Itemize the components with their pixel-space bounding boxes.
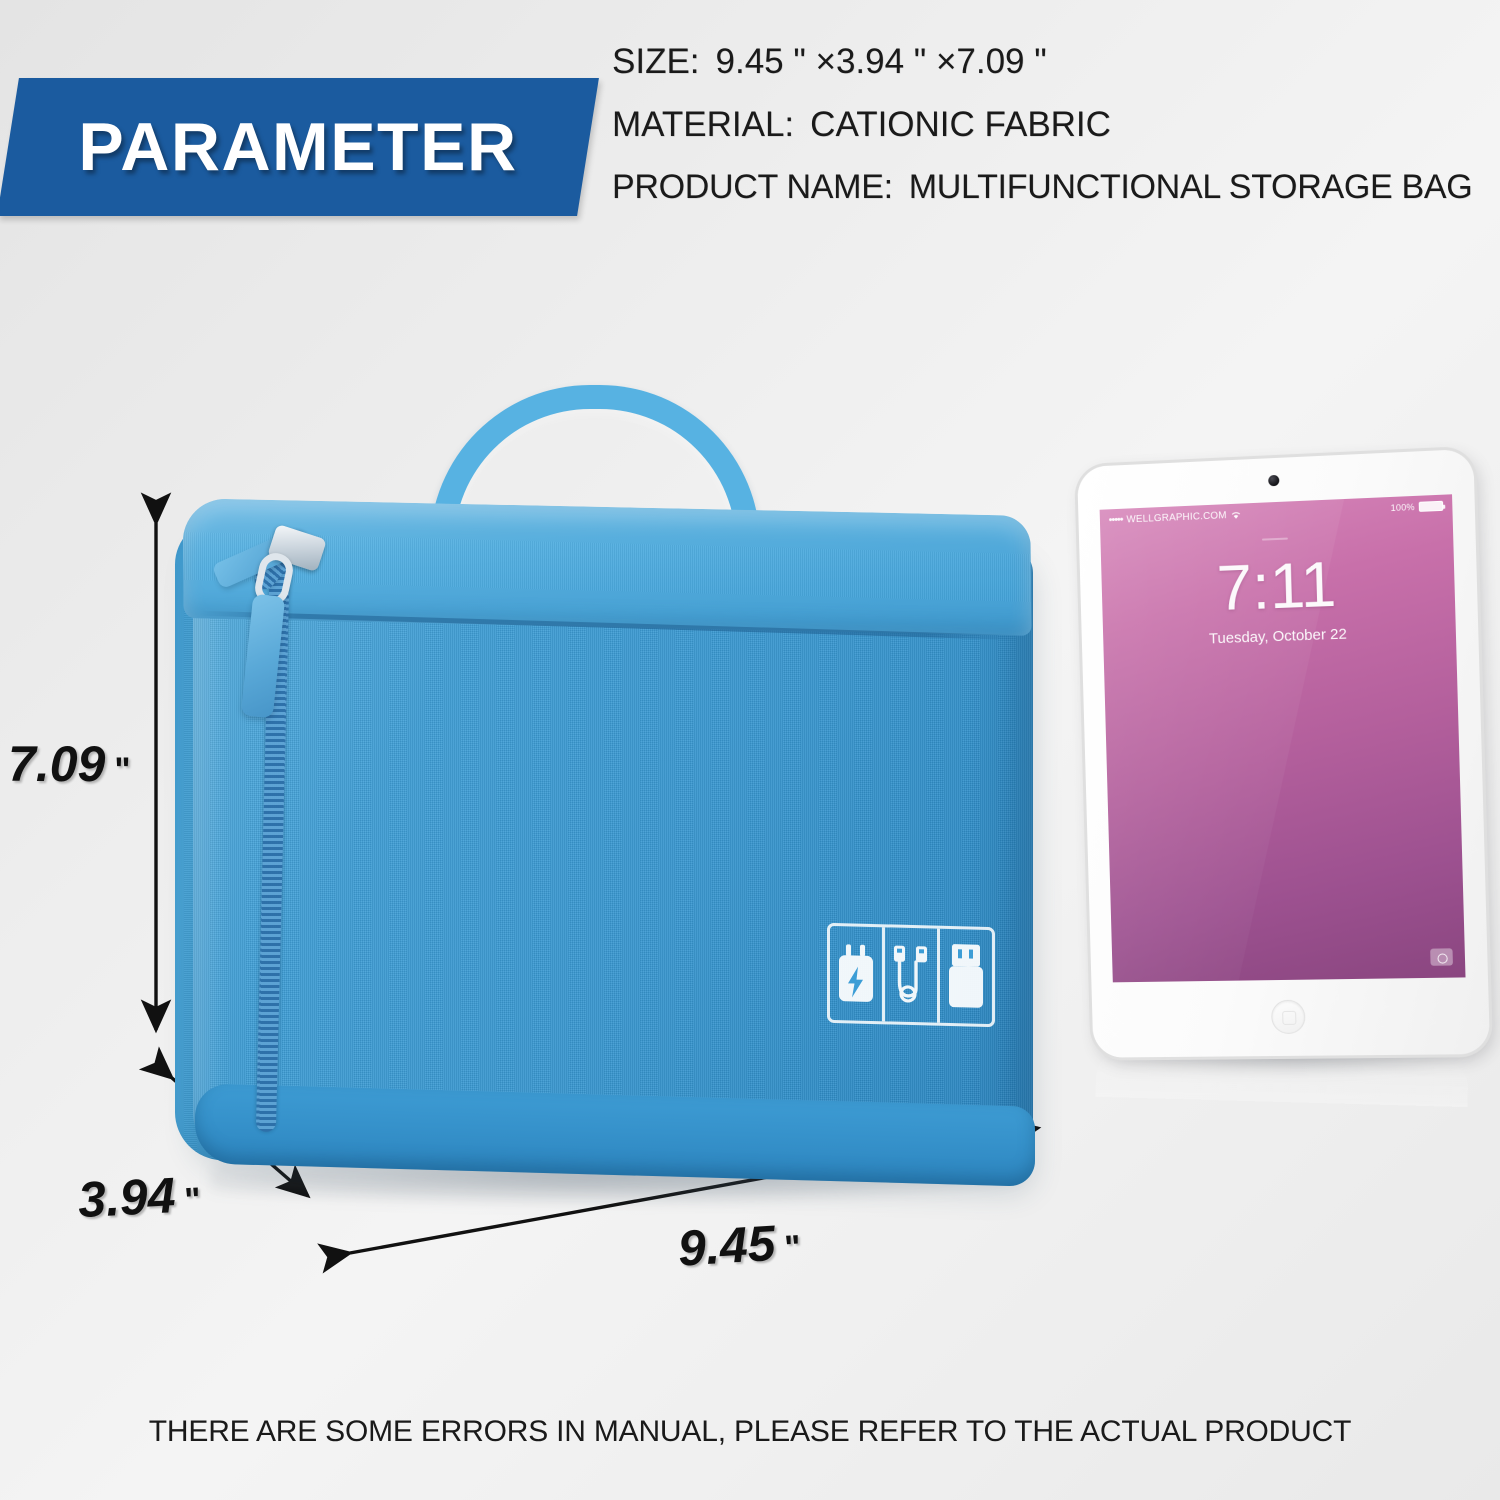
lock-screen-time: 7:11: [1101, 547, 1455, 625]
depth-unit: ": [184, 1181, 202, 1220]
height-unit: ": [114, 751, 130, 789]
home-button[interactable]: [1271, 1000, 1306, 1034]
spec-row-material: MATERIAL:CATIONIC FABRIC: [612, 107, 1492, 142]
badge-cell-cable: [885, 927, 940, 1022]
tablet-screen: ••••• WELLGRAPHIC.COM 100% 7:11 Tuesday,…: [1100, 494, 1466, 982]
spec-row-size: SIZE:9.45 " ×3.94 " ×7.09 ": [612, 44, 1492, 79]
battery-percent-label: 100%: [1391, 502, 1415, 513]
spec-key-product-name: PRODUCT NAME:: [612, 168, 893, 206]
spec-value-material: CATIONIC FABRIC: [810, 105, 1111, 144]
width-dimension-label: 9.45": [676, 1212, 802, 1277]
parameter-banner-label: PARAMETER: [8, 78, 588, 216]
disclaimer-text: THERE ARE SOME ERRORS IN MANUAL, PLEASE …: [0, 1415, 1500, 1449]
spec-list: SIZE:9.45 " ×3.94 " ×7.09 " MATERIAL:CAT…: [612, 44, 1492, 204]
charger-icon: [836, 942, 876, 1005]
spec-value-product-name: MULTIFUNCTIONAL STORAGE BAG: [909, 168, 1473, 206]
status-bar-left: ••••• WELLGRAPHIC.COM: [1109, 509, 1242, 527]
height-value: 7.09: [8, 736, 105, 792]
width-value: 9.45: [676, 1215, 777, 1277]
cable-icon: [888, 943, 934, 1006]
wifi-icon: [1231, 510, 1242, 519]
tablet-device: ••••• WELLGRAPHIC.COM 100% 7:11 Tuesday,…: [1077, 449, 1490, 1058]
product-infographic: PARAMETER SIZE:9.45 " ×3.94 " ×7.09 " MA…: [0, 0, 1500, 1500]
badge-cell-charger: [830, 926, 885, 1021]
signal-dots-icon: •••••: [1109, 514, 1123, 526]
tablet-reflection: [1095, 1051, 1468, 1107]
front-camera-icon: [1268, 475, 1279, 486]
accessory-badge: [827, 923, 995, 1027]
spec-value-size: 9.45 " ×3.94 " ×7.09 ": [716, 42, 1047, 81]
width-unit: ": [783, 1228, 801, 1267]
badge-cell-usb-drive: [940, 929, 992, 1024]
status-bar-right: 100%: [1391, 501, 1444, 513]
usb-drive-icon: [946, 943, 986, 1010]
height-dimension-label: 7.09": [8, 735, 130, 793]
carrier-label: WELLGRAPHIC.COM: [1126, 510, 1227, 525]
battery-icon: [1419, 501, 1444, 512]
spec-row-product-name: PRODUCT NAME:MULTIFUNCTIONAL STORAGE BAG: [612, 170, 1492, 204]
depth-value: 3.94: [77, 1167, 177, 1228]
spec-key-size: SIZE:: [612, 42, 700, 81]
storage-bag: [175, 495, 1030, 1185]
parameter-banner: PARAMETER: [0, 78, 599, 216]
camera-shortcut-icon[interactable]: [1430, 948, 1453, 965]
spec-key-material: MATERIAL:: [612, 105, 794, 144]
